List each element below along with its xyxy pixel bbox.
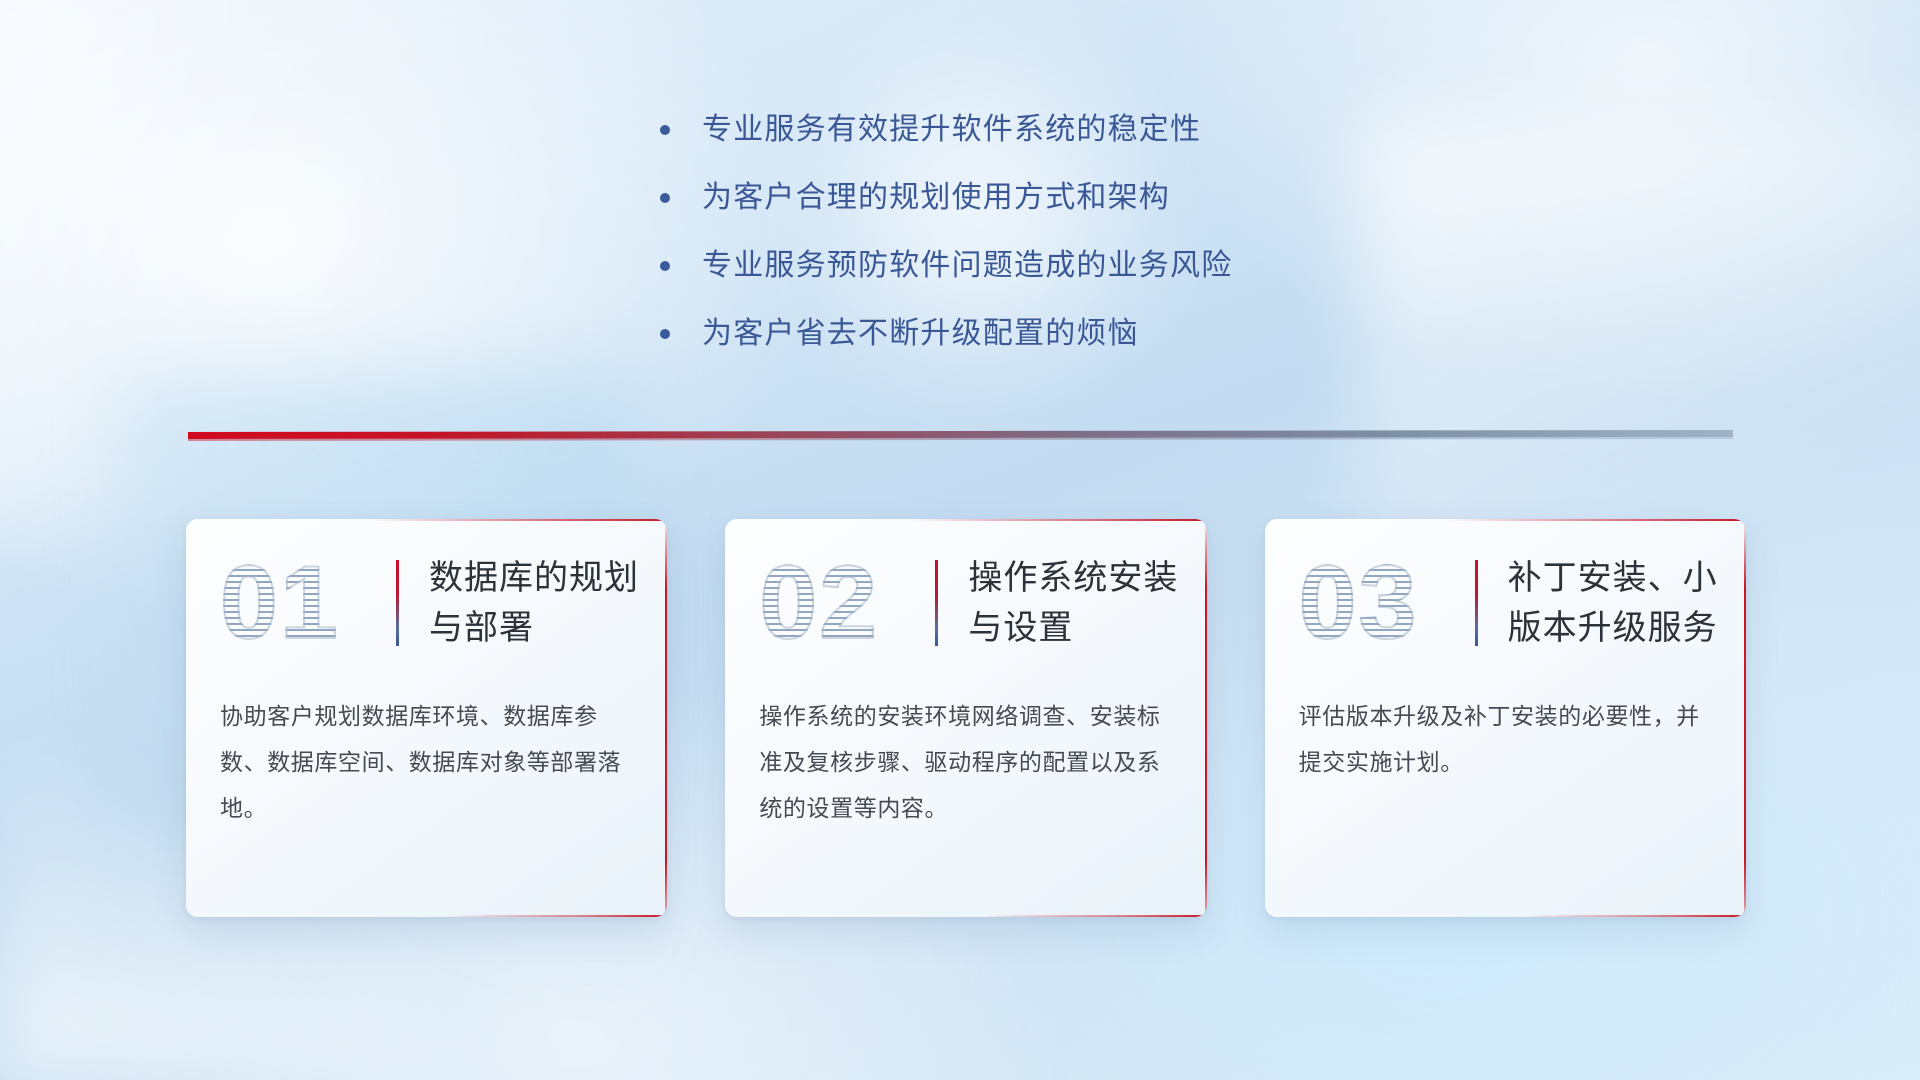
background-glow-top-left bbox=[0, 0, 635, 550]
service-card-01[interactable]: 01 数据库的规划与部署 协助客户规划数据库环境、数据库参数、数据库空间、数据库… bbox=[186, 519, 667, 917]
card-number-watermark: 01 bbox=[220, 551, 396, 655]
service-card-02[interactable]: 02 操作系统安装与设置 操作系统的安装环境网络调查、安装标准及复核步骤、驱动程… bbox=[725, 519, 1206, 917]
bullet-text: 专业服务有效提升软件系统的稳定性 bbox=[702, 108, 1201, 152]
card-description: 操作系统的安装环境网络调查、安装标准及复核步骤、驱动程序的配置以及系统的设置等内… bbox=[725, 693, 1206, 831]
benefit-bullet-list: 专业服务有效提升软件系统的稳定性 为客户合理的规划使用方式和架构 专业服务预防软… bbox=[660, 108, 1520, 380]
bullet-text: 为客户合理的规划使用方式和架构 bbox=[702, 176, 1170, 220]
card-accent-bottom bbox=[1525, 915, 1746, 917]
divider-shape-icon bbox=[188, 430, 1733, 444]
card-title-rule bbox=[935, 560, 938, 646]
bullet-text: 专业服务预防软件问题造成的业务风险 bbox=[702, 244, 1232, 288]
card-number-watermark: 03 bbox=[1299, 551, 1475, 655]
card-title-rule bbox=[1475, 560, 1478, 646]
card-accent-bottom bbox=[446, 915, 667, 917]
card-accent-bottom bbox=[985, 915, 1206, 917]
card-title: 补丁安装、小版本升级服务 bbox=[1508, 553, 1740, 653]
card-header: 01 数据库的规划与部署 bbox=[186, 519, 667, 687]
card-header: 03 补丁安装、小版本升级服务 bbox=[1265, 519, 1746, 687]
list-item: 为客户省去不断升级配置的烦恼 bbox=[660, 312, 1520, 356]
bullet-dot-icon bbox=[660, 125, 670, 135]
list-item: 专业服务有效提升软件系统的稳定性 bbox=[660, 108, 1520, 152]
card-description: 协助客户规划数据库环境、数据库参数、数据库空间、数据库对象等部署落地。 bbox=[186, 693, 667, 831]
slide-root: 专业服务有效提升软件系统的稳定性 为客户合理的规划使用方式和架构 专业服务预防软… bbox=[0, 0, 1920, 1080]
bullet-dot-icon bbox=[660, 193, 670, 203]
list-item: 专业服务预防软件问题造成的业务风险 bbox=[660, 244, 1520, 288]
card-title: 数据库的规划与部署 bbox=[429, 553, 661, 653]
card-title-rule bbox=[396, 560, 399, 646]
bullet-text: 为客户省去不断升级配置的烦恼 bbox=[702, 312, 1139, 356]
list-item: 为客户合理的规划使用方式和架构 bbox=[660, 176, 1520, 220]
card-number-watermark: 02 bbox=[759, 551, 935, 655]
service-card-list: 01 数据库的规划与部署 协助客户规划数据库环境、数据库参数、数据库空间、数据库… bbox=[186, 519, 1746, 917]
section-divider bbox=[188, 430, 1733, 444]
service-card-03[interactable]: 03 补丁安装、小版本升级服务 评估版本升级及补丁安装的必要性，并提交实施计划。 bbox=[1265, 519, 1746, 917]
bullet-dot-icon bbox=[660, 329, 670, 339]
card-title: 操作系统安装与设置 bbox=[968, 553, 1200, 653]
card-description: 评估版本升级及补丁安装的必要性，并提交实施计划。 bbox=[1265, 693, 1746, 785]
bullet-dot-icon bbox=[660, 261, 670, 271]
card-header: 02 操作系统安装与设置 bbox=[725, 519, 1206, 687]
